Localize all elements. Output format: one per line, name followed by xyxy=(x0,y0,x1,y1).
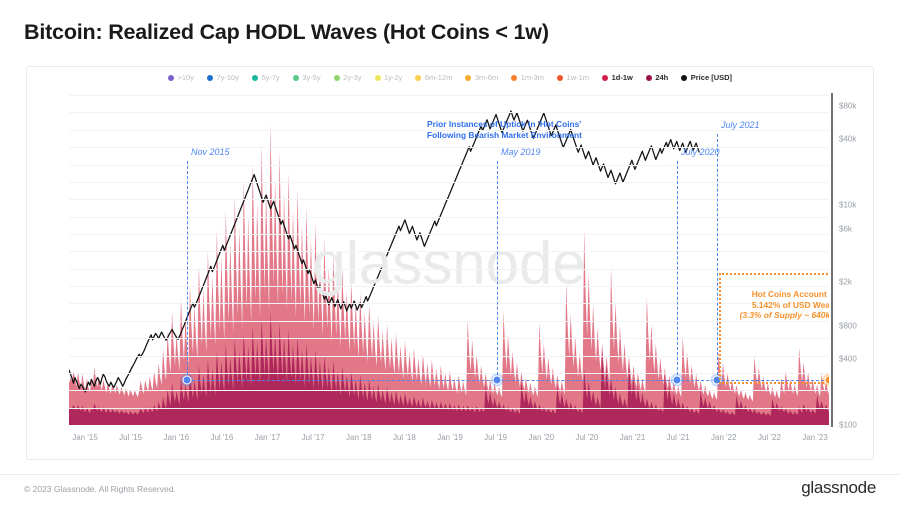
footer-divider xyxy=(0,474,900,475)
legend-dot-icon xyxy=(252,75,258,81)
legend-dot-icon xyxy=(646,75,652,81)
y-axis-right-line xyxy=(831,93,833,427)
x-axis-tick: Jan '16 xyxy=(164,433,190,442)
x-axis-tick: Jul '21 xyxy=(667,433,690,442)
plot-area: glassnode Nov 2015May 2019July 2020July … xyxy=(69,95,829,425)
x-axis-tick: Jan '19 xyxy=(437,433,463,442)
gridline xyxy=(69,303,829,304)
x-axis-tick: Jan '23 xyxy=(802,433,828,442)
legend-dot-icon xyxy=(511,75,517,81)
legend-item-label: 2y-3y xyxy=(343,73,361,82)
gridline xyxy=(69,269,829,270)
x-axis-tick: Jul '22 xyxy=(758,433,781,442)
x-axis-tick: Jul '19 xyxy=(484,433,507,442)
legend-item-label: Price [USD] xyxy=(691,73,732,82)
legend-item-label: 7y-10y xyxy=(216,73,239,82)
legend-dot-icon xyxy=(415,75,421,81)
legend-dot-icon xyxy=(557,75,563,81)
legend-item-1y-2y[interactable]: 1y-2y xyxy=(375,73,403,82)
legend-item-label: 3y-5y xyxy=(302,73,320,82)
legend-item-label: 1d-1w xyxy=(612,73,633,82)
legend-item-1w-1m[interactable]: 1w-1m xyxy=(557,73,589,82)
marker-label-3: July 2021 xyxy=(721,120,760,130)
y-axis-right-tick: $80k xyxy=(839,101,856,110)
annotation-prior-line-2: Following Bearish Market Environment xyxy=(427,130,582,141)
legend-item-24h[interactable]: 24h xyxy=(646,73,668,82)
marker-label-0: Nov 2015 xyxy=(191,147,230,157)
y-axis-right-tick: $6k xyxy=(839,225,852,234)
x-axis-tick: Jul '18 xyxy=(393,433,416,442)
legend-item-label: 1y-2y xyxy=(384,73,402,82)
x-axis-tick: Jul '16 xyxy=(210,433,233,442)
x-axis-tick: Jan '17 xyxy=(255,433,281,442)
legend-dot-icon xyxy=(602,75,608,81)
legend-item-3m-6m[interactable]: 3m-6m xyxy=(465,73,498,82)
legend-item-1d-1w[interactable]: 1d-1w xyxy=(602,73,633,82)
gridline xyxy=(69,338,829,339)
legend-item-6m-12m[interactable]: 6m-12m xyxy=(415,73,452,82)
y-axis-right-tick: $100 xyxy=(839,421,857,430)
annotation-prior-line-1: Prior Instances of Uptick in 'Hot Coins' xyxy=(427,119,582,130)
legend-dot-icon xyxy=(375,75,381,81)
annotation-hot-coins-line-3: (3.3% of Supply ~ 640k BTC) xyxy=(721,310,829,321)
guide-line-vertical-3 xyxy=(717,134,718,380)
legend-dot-icon xyxy=(168,75,174,81)
legend-item-label: 3m-6m xyxy=(475,73,498,82)
x-axis-tick: Jan '15 xyxy=(72,433,98,442)
x-axis-tick: Jan '21 xyxy=(620,433,646,442)
x-axis-tick: Jan '18 xyxy=(346,433,372,442)
gridline xyxy=(69,165,829,166)
x-axis-tick: Jul '17 xyxy=(302,433,325,442)
gridline xyxy=(69,286,829,287)
y-axis-right-tick: $400 xyxy=(839,354,857,363)
glassnode-logo: glassnode xyxy=(801,478,876,498)
legend-dot-icon xyxy=(293,75,299,81)
y-axis-right-tick: $800 xyxy=(839,321,857,330)
marker-label-2: July 2020 xyxy=(681,147,720,157)
marker-dot-2 xyxy=(673,376,682,385)
annotation-prior-instances: Prior Instances of Uptick in 'Hot Coins'… xyxy=(427,119,582,140)
legend-dot-icon xyxy=(334,75,340,81)
gridline xyxy=(69,199,829,200)
x-axis-tick: Jul '20 xyxy=(575,433,598,442)
marker-dot-1 xyxy=(493,376,502,385)
legend-item-label: 1w-1m xyxy=(567,73,590,82)
gridline xyxy=(69,217,829,218)
marker-label-1: May 2019 xyxy=(501,147,541,157)
footer-copyright: © 2023 Glassnode. All Rights Reserved. xyxy=(24,484,176,494)
chart-card: >10y7y-10y5y-7y3y-5y2y-3y1y-2y6m-12m3m-6… xyxy=(26,66,874,460)
legend-item--10y[interactable]: >10y xyxy=(168,73,194,82)
current-value-marker xyxy=(825,376,830,385)
legend-dot-icon xyxy=(465,75,471,81)
legend-item-7y-10y[interactable]: 7y-10y xyxy=(207,73,239,82)
page-title: Bitcoin: Realized Cap HODL Waves (Hot Co… xyxy=(24,20,549,45)
legend-item-5y-7y[interactable]: 5y-7y xyxy=(252,73,280,82)
annotation-hot-coins: Hot Coins Account for5.142% of USD Wealt… xyxy=(721,289,829,321)
x-axis-tick: Jan '22 xyxy=(711,433,737,442)
guide-line-vertical-2 xyxy=(677,161,678,380)
chart-legend: >10y7y-10y5y-7y3y-5y2y-3y1y-2y6m-12m3m-6… xyxy=(27,73,873,82)
gridline xyxy=(69,95,829,96)
annotation-hot-coins-line-2: 5.142% of USD Wealth xyxy=(721,300,829,311)
y-axis-right-tick: $2k xyxy=(839,277,852,286)
gridline xyxy=(69,234,829,235)
legend-item-3y-5y[interactable]: 3y-5y xyxy=(293,73,321,82)
legend-item-label: 5y-7y xyxy=(261,73,279,82)
legend-item-price-usd-[interactable]: Price [USD] xyxy=(681,73,732,82)
x-axis-tick: Jan '20 xyxy=(529,433,555,442)
legend-item-label: >10y xyxy=(177,73,193,82)
gridline xyxy=(69,373,829,374)
x-axis-tick: Jul '15 xyxy=(119,433,142,442)
gridline xyxy=(69,321,829,322)
legend-dot-icon xyxy=(681,75,687,81)
gridline xyxy=(69,408,829,409)
marker-dot-0 xyxy=(183,376,192,385)
y-axis-right-tick: $40k xyxy=(839,134,856,143)
gridline xyxy=(69,390,829,391)
legend-item-1m-3m[interactable]: 1m-3m xyxy=(511,73,544,82)
legend-item-label: 6m-12m xyxy=(425,73,453,82)
plot-inner: glassnode Nov 2015May 2019July 2020July … xyxy=(69,95,829,425)
glassnode-watermark: glassnode xyxy=(312,229,586,298)
legend-item-label: 1m-3m xyxy=(521,73,544,82)
legend-dot-icon xyxy=(207,75,213,81)
legend-item-2y-3y[interactable]: 2y-3y xyxy=(334,73,362,82)
gridline xyxy=(69,112,829,113)
gridline xyxy=(69,356,829,357)
annotation-hot-coins-line-1: Hot Coins Account for xyxy=(721,289,829,300)
guide-line-vertical-0 xyxy=(187,161,188,380)
screenshot-root: Bitcoin: Realized Cap HODL Waves (Hot Co… xyxy=(0,0,900,518)
gridline xyxy=(69,182,829,183)
y-axis-right-tick: $10k xyxy=(839,201,856,210)
guide-line-vertical-1 xyxy=(497,161,498,380)
gridline xyxy=(69,251,829,252)
legend-item-label: 24h xyxy=(655,73,668,82)
